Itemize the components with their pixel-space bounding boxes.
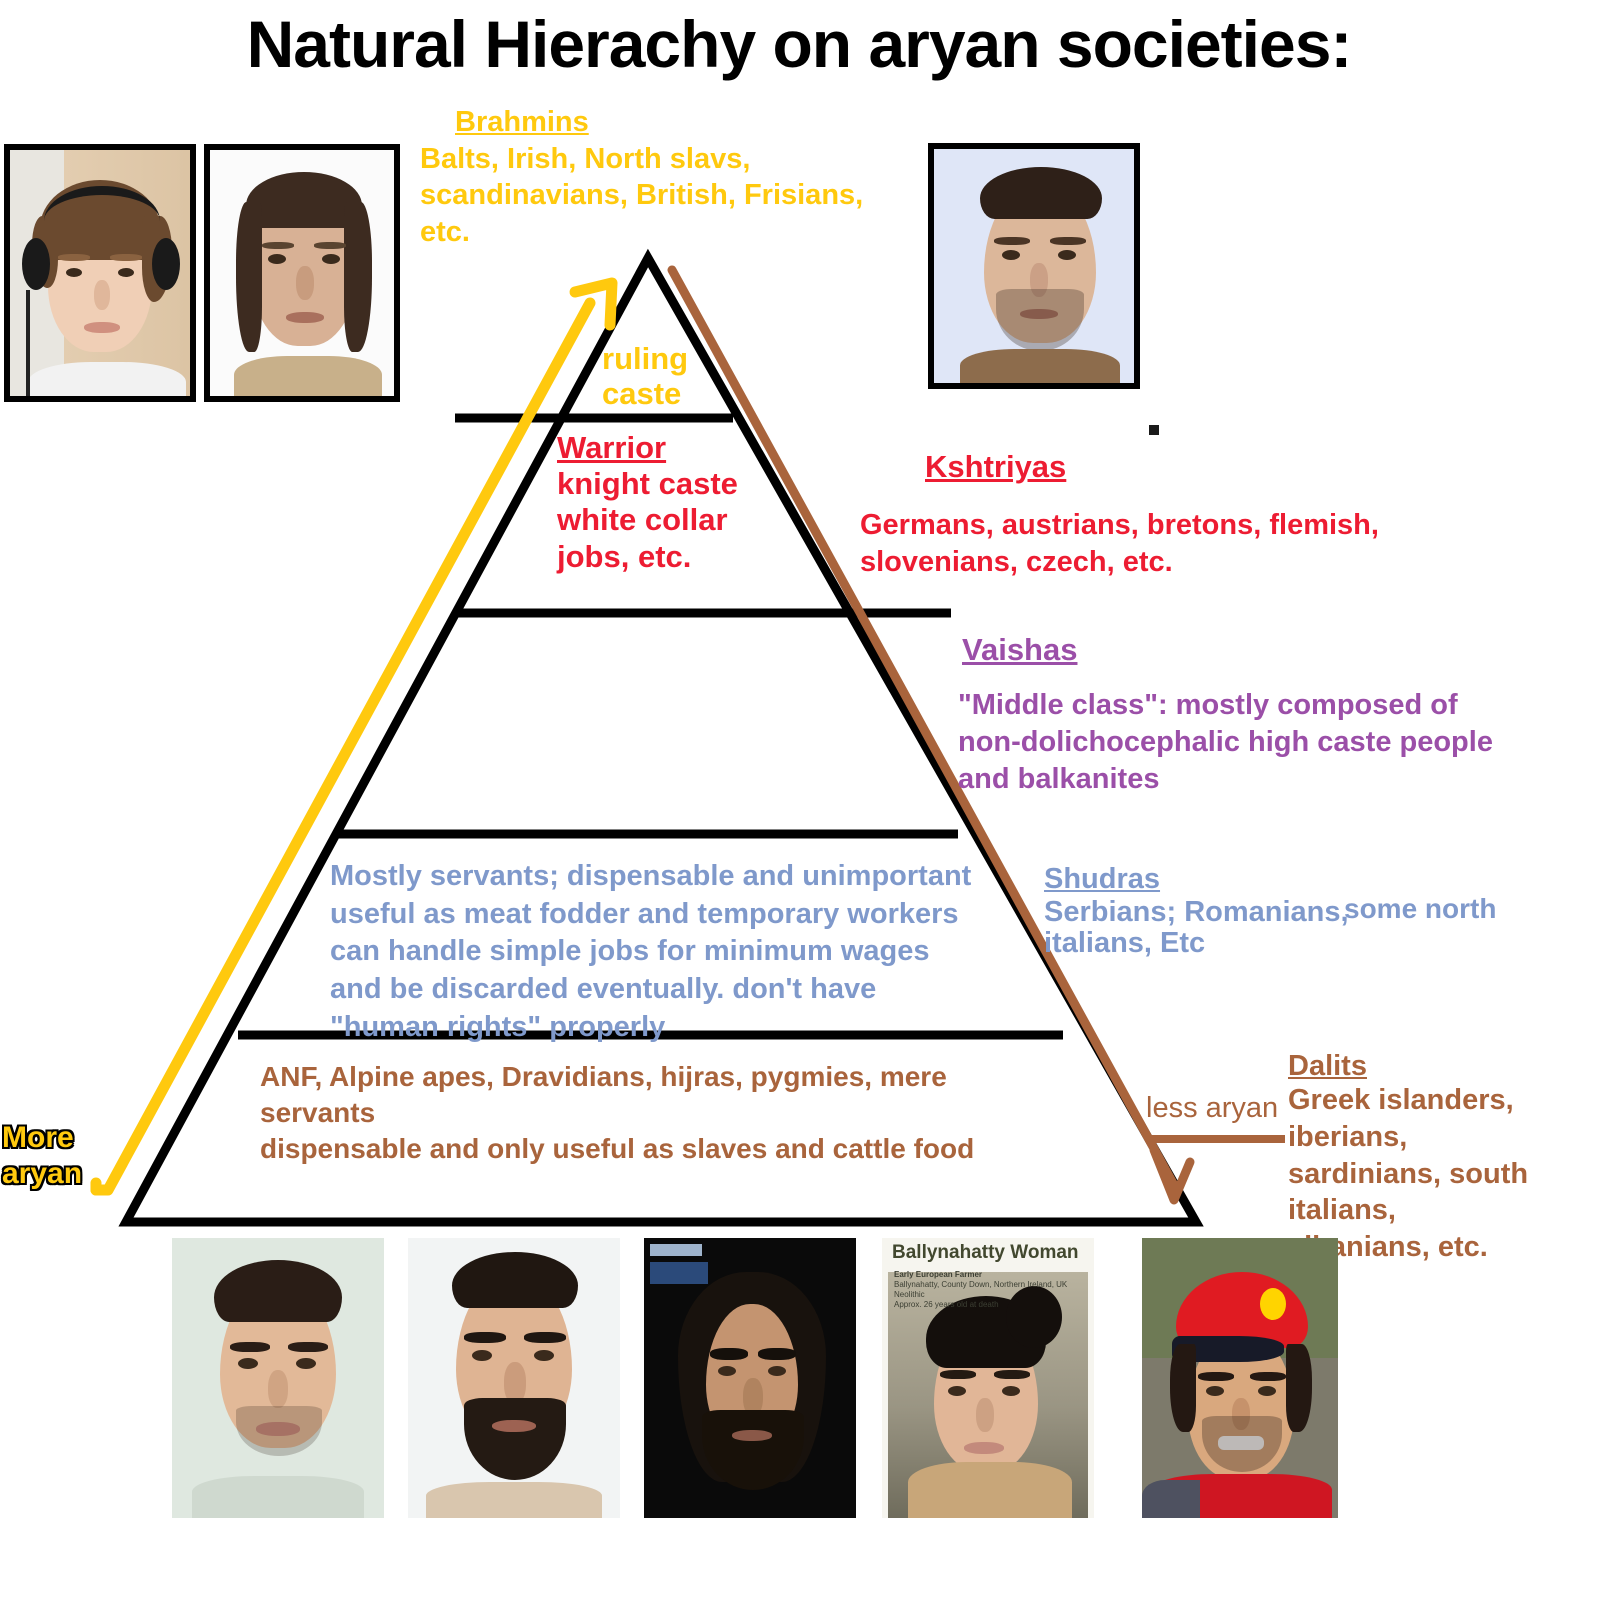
page-title: Natural Hierachy on aryan societies: [0,6,1598,82]
ballynahatty-caption-line3: Neolithic [894,1290,925,1299]
photo-reconstruction-man-stubble [928,143,1140,389]
vaishas-heading: Vaishas [962,633,1077,668]
more-aryan-label: More aryan [2,1120,82,1192]
less-aryan-label: less aryan [1146,1092,1278,1124]
ballynahatty-caption-line1: Early European Farmer [894,1270,982,1279]
shudra-level-body: Mostly servants; dispensable and unimpor… [330,858,971,1046]
dalits-heading: Dalits [1288,1050,1367,1082]
stray-dot [1149,425,1159,435]
ballynahatty-caption-title: Ballynahatty Woman [892,1242,1079,1264]
photo-long-haired-bearded-dark-man [644,1238,856,1518]
photo-young-blond-man-headphones [4,144,196,402]
brahmins-body: Balts, Irish, North slavs, scandinavians… [420,141,863,250]
photo-man-red-racing-cap [1142,1238,1338,1518]
photo-dark-haired-young-man [172,1238,384,1518]
photo-bearded-reconstruction-man [408,1238,620,1518]
less-aryan-arrowhead [1154,1150,1190,1200]
shudras-body-b: some north [1344,893,1496,924]
level-ruling-caste-label: ruling caste [602,341,688,411]
more-aryan-arrow [96,303,590,1190]
warrior-body: knight caste white collar jobs, etc. [557,466,738,575]
shudras-heading: Shudras [1044,863,1160,895]
ballynahatty-caption-line4: Approx. 26 years old at death [894,1300,999,1309]
photo-reconstruction-older-man-long-hair [204,144,400,402]
vaishas-body: "Middle class": mostly composed of non-d… [958,687,1493,798]
shudras-body-c: italians, Etc [1044,927,1205,959]
dalit-level-body: ANF, Alpine apes, Dravidians, hijras, py… [260,1059,974,1166]
more-aryan-arrowhead [575,283,612,325]
brahmins-heading: Brahmins [455,106,589,138]
photo-ballynahatty-woman-reconstruction: Ballynahatty Woman Early European Farmer… [882,1238,1094,1518]
kshtriyas-heading: Kshtriyas [925,450,1066,485]
shudras-body-a: Serbians; Romanians, [1044,896,1349,928]
ballynahatty-caption-line2: Ballynahatty, County Down, Northern Irel… [894,1280,1067,1289]
kshtriyas-body: Germans, austrians, bretons, flemish, sl… [860,507,1379,582]
warrior-heading: Warrior [557,431,666,466]
